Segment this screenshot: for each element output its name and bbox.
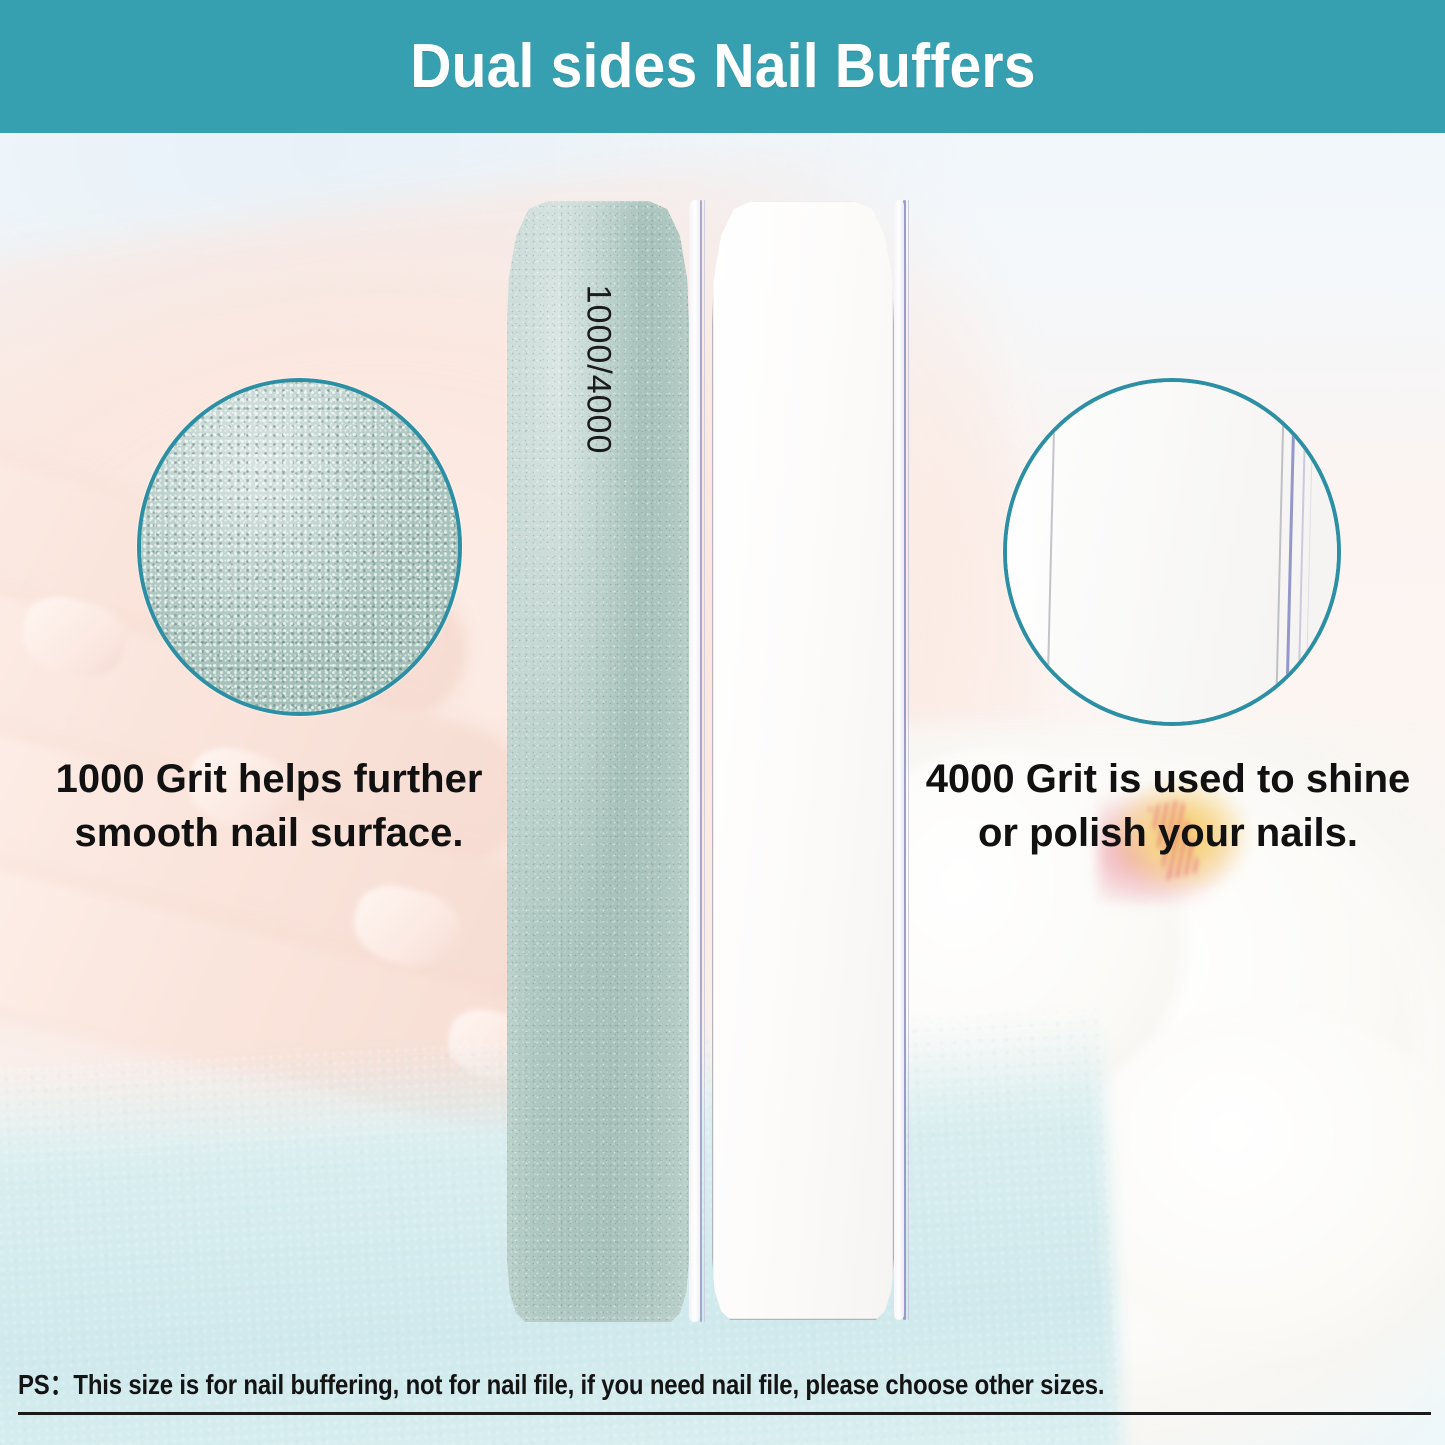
grit-grain-texture [141,382,458,712]
footer-note-block: PS：This size is for nail buffering, not … [18,1363,1431,1415]
callout-circle-1000-grit [137,378,462,716]
nail-buffer-green-1000-grit: 1000/4000 [507,200,689,1322]
infographic-page: Dual sides Nail Buffers 1000/4000 1000 G… [0,0,1445,1445]
buffer-edge-thin-line [908,200,909,1320]
header-banner: Dual sides Nail Buffers [0,0,1445,133]
buffer-grit-label: 1000/4000 [579,285,618,455]
shine-surface-shading [1007,382,1060,722]
footer-ps-text: PS：This size is for nail buffering, not … [18,1363,1226,1403]
callout-caption-4000-grit: 4000 Grit is used to shine or polish you… [912,752,1424,860]
buffer-edge-white-core [689,200,700,1322]
footer-divider [18,1412,1431,1415]
nail-buffer-white-4000-grit [712,200,894,1320]
buffer-edge-white-core [894,200,904,1320]
buffer-edge-thin-line [704,200,705,1322]
callout-caption-1000-grit: 1000 Grit helps further smooth nail surf… [28,752,510,860]
buffer-white-body [712,200,894,1320]
callout-circle-4000-grit [1003,378,1341,726]
page-title: Dual sides Nail Buffers [410,31,1036,102]
